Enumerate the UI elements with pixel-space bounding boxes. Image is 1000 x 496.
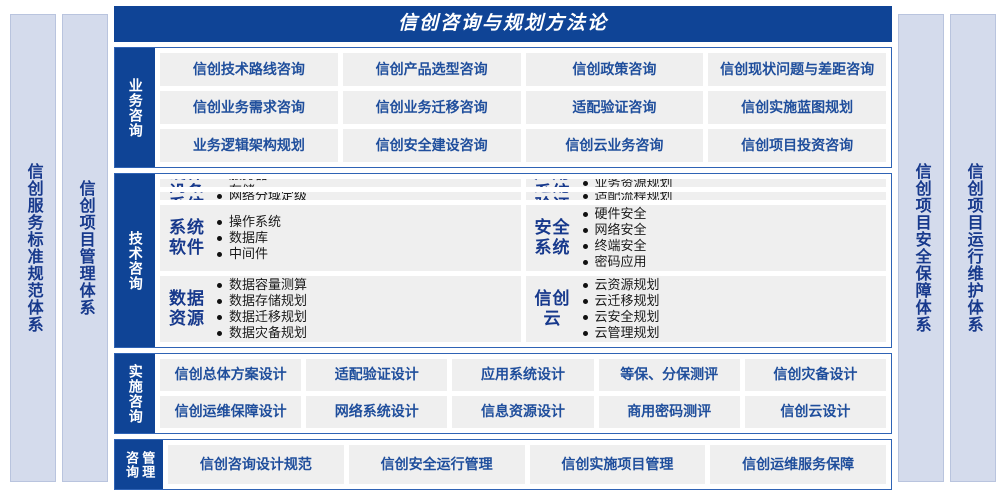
list-item[interactable]: 业务逻辑架构规划 — [160, 129, 338, 162]
section-label-implementation: 实施咨询 — [115, 354, 155, 433]
list-item[interactable]: 信创现状问题与差距咨询 — [708, 53, 886, 86]
list-item[interactable]: 信创项目投资咨询 — [708, 129, 886, 162]
card-application-system[interactable]: 应用 系统 业务信息梳理 业务资源规划 系统功能设计 — [526, 179, 887, 187]
list-item[interactable]: 信创实施蓝图规划 — [708, 91, 886, 124]
list-item[interactable]: 网络系统设计 — [306, 396, 447, 428]
card-item-list: 芯片技术 服务器 存储 终端 — [216, 179, 515, 187]
list-item[interactable]: 信创产品选型咨询 — [343, 53, 521, 86]
pillar-label: 信创项目运行维护体系 — [964, 163, 981, 333]
list-item: 硬件安全 — [582, 206, 881, 222]
list-item[interactable]: 信创业务需求咨询 — [160, 91, 338, 124]
list-item: 中间件 — [216, 246, 515, 262]
list-item: 数据存储规划 — [216, 293, 515, 309]
section-label-business: 业务咨询 — [115, 48, 155, 167]
list-item: 网络分域定级 — [216, 192, 515, 200]
section-label-technical: 技术咨询 — [115, 174, 155, 347]
card-title: 适配 验证 — [532, 192, 574, 200]
section-implementation-consulting: 实施咨询 信创总体方案设计 适配验证设计 应用系统设计 等保、分保测评 信创灾备… — [114, 353, 892, 434]
card-system-software[interactable]: 系统 软件 操作系统 数据库 中间件 — [160, 205, 521, 271]
card-title: 信创 云 — [532, 289, 574, 328]
list-item: 云迁移规划 — [582, 293, 881, 309]
pillar-label: 信创项目安全保障体系 — [912, 163, 929, 333]
pillar-service-standard-system: 信创服务标准规范体系 — [10, 14, 56, 482]
list-item: 业务资源规划 — [582, 179, 881, 187]
card-title: 安全 系统 — [532, 218, 574, 257]
technical-cards-grid: 硬件 设备 芯片技术 服务器 存储 终端 应用 系统 — [155, 174, 891, 347]
card-hardware-equipment[interactable]: 硬件 设备 芯片技术 服务器 存储 终端 — [160, 179, 521, 187]
section-business-consulting: 业务咨询 信创技术路线咨询 信创产品选型咨询 信创政策咨询 信创现状问题与差距咨… — [114, 47, 892, 168]
list-item[interactable]: 信创政策咨询 — [526, 53, 704, 86]
section-technical-consulting: 技术咨询 硬件 设备 芯片技术 服务器 存储 终端 — [114, 173, 892, 348]
card-data-resource[interactable]: 数据 资源 数据容量测算 数据存储规划 数据迁移规划 数据灾备规划 — [160, 276, 521, 342]
list-item[interactable]: 应用系统设计 — [452, 359, 593, 391]
list-item[interactable]: 信创云业务咨询 — [526, 129, 704, 162]
list-item[interactable]: 信创技术路线咨询 — [160, 53, 338, 86]
card-title: 应用 系统 — [532, 179, 574, 187]
pillar-project-security-system: 信创项目安全保障体系 — [898, 14, 944, 482]
business-items-grid: 信创技术路线咨询 信创产品选型咨询 信创政策咨询 信创现状问题与差距咨询 信创业… — [155, 48, 891, 167]
architecture-diagram: 信创服务标准规范体系 信创项目管理体系 信创咨询与规划方法论 业务咨询 信创技术… — [0, 0, 1000, 496]
list-item[interactable]: 适配验证设计 — [306, 359, 447, 391]
card-title: 硬件 设备 — [166, 179, 208, 187]
card-title: 网络 系统 — [166, 192, 208, 200]
list-item: 适配流程规划 — [582, 192, 881, 200]
card-title: 系统 软件 — [166, 218, 208, 257]
card-item-list: 网络架构规划 网络分域定级 网络资源规划 — [216, 192, 515, 200]
list-item[interactable]: 信创灾备设计 — [745, 359, 886, 391]
card-item-list: 硬件安全 网络安全 终端安全 密码应用 — [582, 206, 881, 269]
list-item: 数据迁移规划 — [216, 309, 515, 325]
list-item[interactable]: 等保、分保测评 — [599, 359, 740, 391]
pillar-project-management-system: 信创项目管理体系 — [62, 14, 108, 482]
card-item-list: 云资源规划 云迁移规划 云安全规划 云管理规划 — [582, 277, 881, 340]
list-item: 云资源规划 — [582, 277, 881, 293]
card-title: 数据 资源 — [166, 289, 208, 328]
section-label-management: 咨询 管理 — [115, 440, 163, 489]
card-item-list: 业务信息梳理 业务资源规划 系统功能设计 — [582, 179, 881, 187]
list-item: 数据库 — [216, 230, 515, 246]
list-item[interactable]: 信息资源设计 — [452, 396, 593, 428]
list-item: 网络安全 — [582, 222, 881, 238]
list-item[interactable]: 信创总体方案设计 — [160, 359, 301, 391]
pillar-label: 信创项目管理体系 — [76, 180, 93, 316]
list-item: 云安全规划 — [582, 309, 881, 325]
list-item[interactable]: 信创安全运行管理 — [349, 445, 525, 484]
list-item: 密码应用 — [582, 254, 881, 270]
card-adaptation-verification[interactable]: 适配 验证 信创生态建设 适配流程规划 适配实验室建设规划 — [526, 192, 887, 200]
card-item-list: 操作系统 数据库 中间件 — [216, 214, 515, 262]
card-security-system[interactable]: 安全 系统 硬件安全 网络安全 终端安全 密码应用 — [526, 205, 887, 271]
list-item[interactable]: 信创安全建设咨询 — [343, 129, 521, 162]
implementation-items-grid: 信创总体方案设计 适配验证设计 应用系统设计 等保、分保测评 信创灾备设计 信创… — [155, 354, 891, 433]
page-title: 信创咨询与规划方法论 — [114, 6, 892, 42]
main-content: 信创咨询与规划方法论 业务咨询 信创技术路线咨询 信创产品选型咨询 信创政策咨询… — [114, 6, 892, 490]
section-consulting-management: 咨询 管理 信创咨询设计规范 信创安全运行管理 信创实施项目管理 信创运维服务保… — [114, 439, 892, 490]
list-item[interactable]: 信创咨询设计规范 — [168, 445, 344, 484]
list-item[interactable]: 商用密码测评 — [599, 396, 740, 428]
list-item[interactable]: 信创运维服务保障 — [710, 445, 886, 484]
list-item: 终端安全 — [582, 238, 881, 254]
card-xinchuang-cloud[interactable]: 信创 云 云资源规划 云迁移规划 云安全规划 云管理规划 — [526, 276, 887, 342]
pillar-label: 信创服务标准规范体系 — [24, 163, 41, 333]
list-item: 存储 — [216, 183, 515, 187]
list-item: 数据容量测算 — [216, 277, 515, 293]
list-item: 数据灾备规划 — [216, 325, 515, 341]
list-item[interactable]: 信创实施项目管理 — [530, 445, 706, 484]
list-item: 操作系统 — [216, 214, 515, 230]
list-item: 云管理规划 — [582, 325, 881, 341]
card-item-list: 数据容量测算 数据存储规划 数据迁移规划 数据灾备规划 — [216, 277, 515, 340]
list-item[interactable]: 适配验证咨询 — [526, 91, 704, 124]
pillar-project-operation-system: 信创项目运行维护体系 — [950, 14, 996, 482]
list-item[interactable]: 信创业务迁移咨询 — [343, 91, 521, 124]
list-item[interactable]: 信创云设计 — [745, 396, 886, 428]
card-item-list: 信创生态建设 适配流程规划 适配实验室建设规划 — [582, 192, 881, 200]
management-items-grid: 信创咨询设计规范 信创安全运行管理 信创实施项目管理 信创运维服务保障 — [163, 440, 891, 489]
card-network-system[interactable]: 网络 系统 网络架构规划 网络分域定级 网络资源规划 — [160, 192, 521, 200]
list-item[interactable]: 信创运维保障设计 — [160, 396, 301, 428]
